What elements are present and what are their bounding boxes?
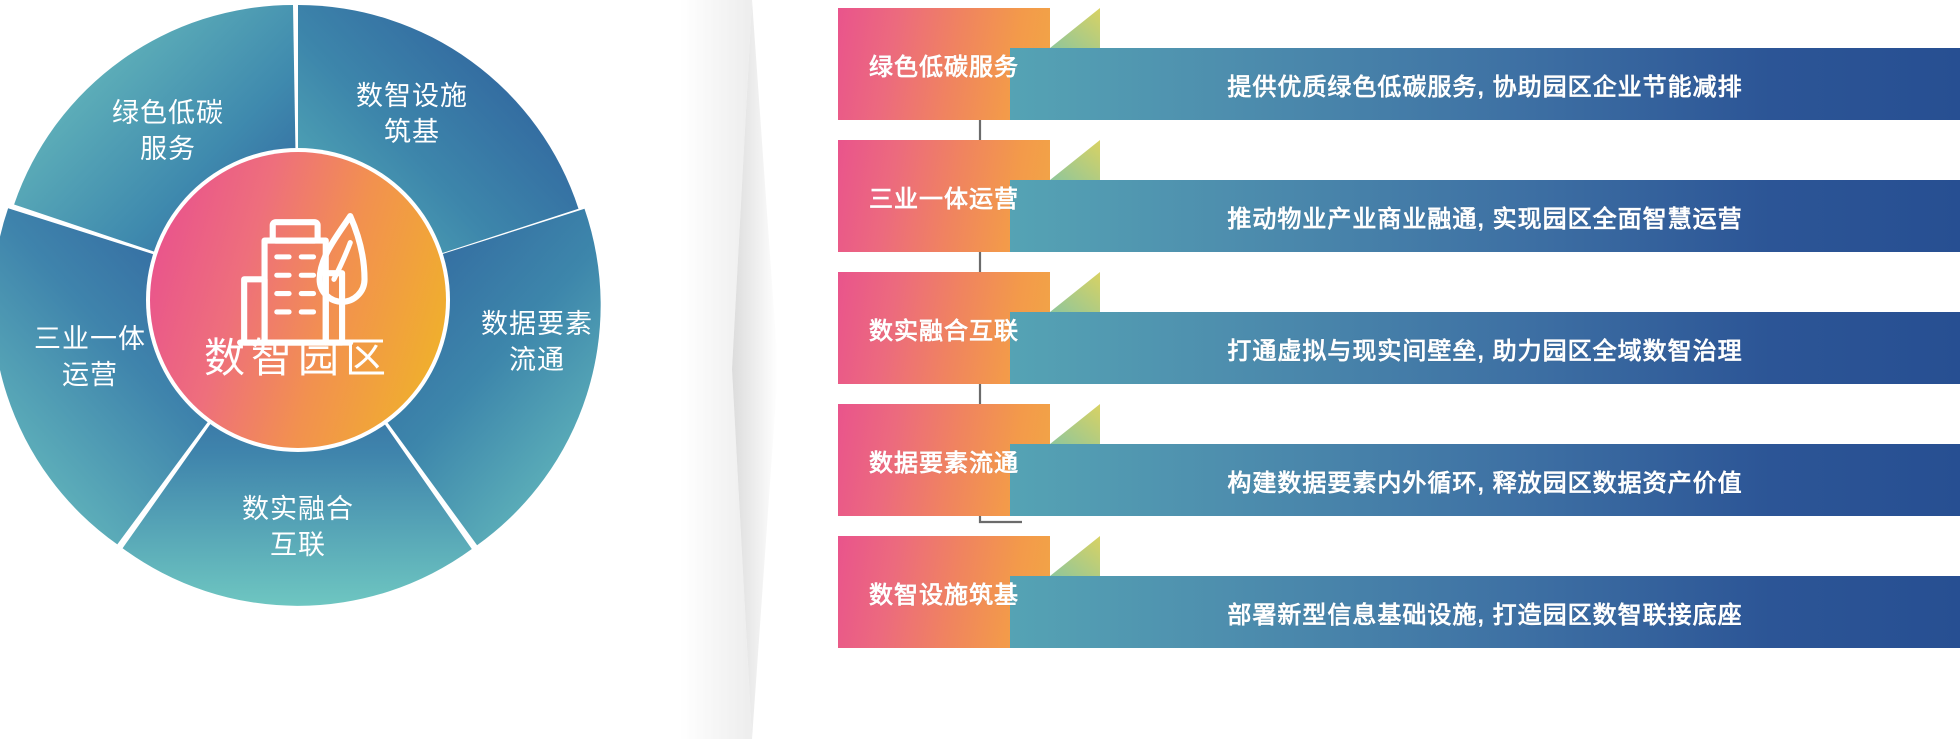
segment-label-green-lowcarbon-line2: 服务 [140, 134, 196, 164]
segment-label-digital-real-line2: 互联 [270, 530, 326, 560]
feature-row-three-industry[interactable]: 三业一体运营 推动物业产业商业融通, 实现园区全面智慧运营 [830, 140, 1960, 252]
segment-label-three-industry-line2: 运营 [62, 360, 118, 390]
segment-label-infrastructure-line2: 筑基 [384, 117, 440, 147]
center-disc[interactable] [150, 152, 446, 448]
row-desc-label: 推动物业产业商业融通, 实现园区全面智慧运营 [1010, 180, 1960, 252]
segment-label-infrastructure-line1: 数智设施 [356, 81, 468, 111]
row-desc-label: 打通虚拟与现实间壁垒, 助力园区全域数智治理 [1010, 312, 1960, 384]
row-desc-label: 构建数据要素内外循环, 释放园区数据资产价值 [1010, 444, 1960, 516]
row-desc-label: 部署新型信息基础设施, 打造园区数智联接底座 [1010, 576, 1960, 648]
feature-row-green-lowcarbon[interactable]: 绿色低碳服务 提供优质绿色低碳服务, 协助园区企业节能减排 [830, 8, 1960, 120]
donut-wheel-svg: 数智园区 数智设施 筑基 数据要素 流通 数实融合 互联 三业一体 运营 绿色低… [0, 0, 680, 739]
center-title: 数智园区 [204, 335, 392, 381]
segment-label-data-element-line1: 数据要素 [481, 309, 593, 339]
feature-row-digital-real[interactable]: 数实融合互联 打通虚拟与现实间壁垒, 助力园区全域数智治理 [830, 272, 1960, 384]
feature-row-infrastructure[interactable]: 数智设施筑基 部署新型信息基础设施, 打造园区数智联接底座 [830, 536, 1960, 648]
segment-label-green-lowcarbon-line1: 绿色低碳 [112, 98, 224, 128]
flow-arrow [660, 0, 830, 739]
feature-row-data-element[interactable]: 数据要素流通 构建数据要素内外循环, 释放园区数据资产价值 [830, 404, 1960, 516]
segment-label-digital-real-line1: 数实融合 [242, 494, 354, 524]
donut-wheel-panel: 数智园区 数智设施 筑基 数据要素 流通 数实融合 互联 三业一体 运营 绿色低… [0, 0, 680, 739]
infographic-canvas: 数智园区 数智设施 筑基 数据要素 流通 数实融合 互联 三业一体 运营 绿色低… [0, 0, 1960, 739]
row-desc-label: 提供优质绿色低碳服务, 协助园区企业节能减排 [1010, 48, 1960, 120]
segment-label-three-industry-line1: 三业一体 [34, 324, 146, 354]
segment-label-data-element-line2: 流通 [509, 345, 565, 375]
feature-rows-panel: 绿色低碳服务 提供优质绿色低碳服务, 协助园区企业节能减排 三业一体运营 推动物… [830, 0, 1960, 739]
